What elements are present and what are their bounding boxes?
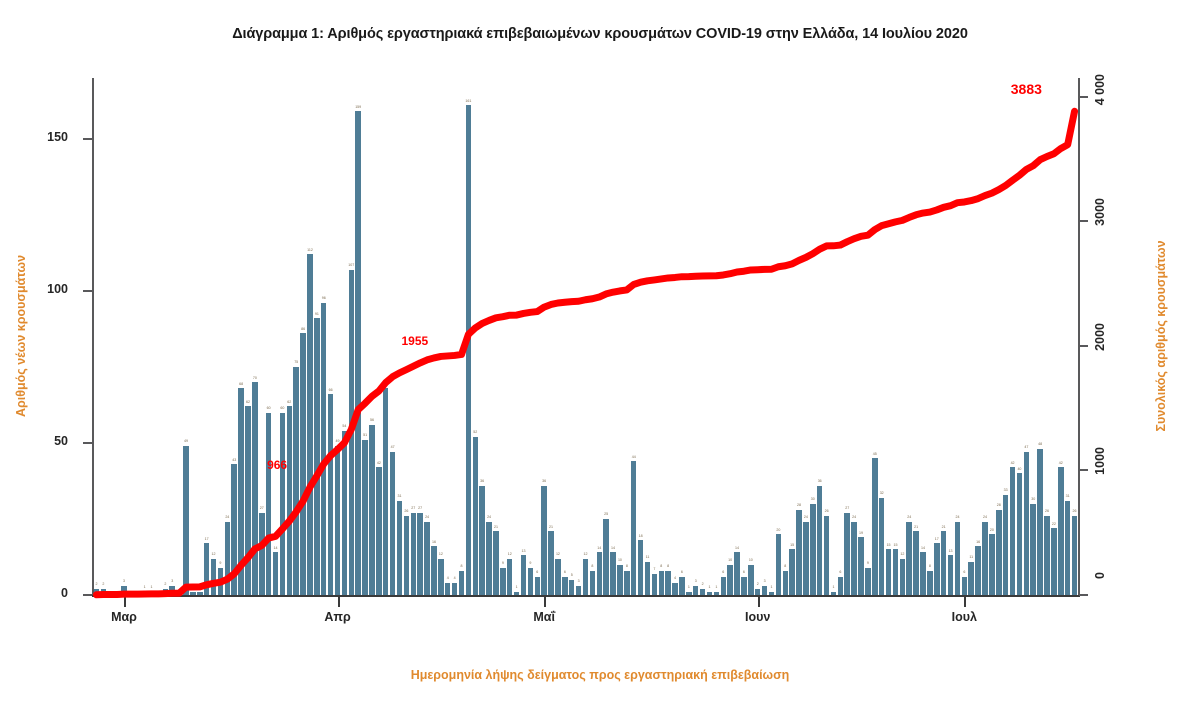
y-axis-right-title: Συνολικός αριθμός κρουσμάτων — [1154, 240, 1168, 431]
y-left-tick-mark — [83, 442, 92, 444]
y-axis-right-line — [1078, 78, 1080, 595]
y-left-tick-label: 50 — [0, 434, 68, 448]
y-right-tick-mark — [1079, 96, 1088, 98]
y-right-tick-mark — [1079, 594, 1088, 596]
y-right-tick-label: 1000 — [1093, 447, 1107, 475]
x-tick-mark — [338, 597, 340, 607]
cumulative-line-series — [93, 78, 1078, 595]
chart-root: Διάγραμμα 1: Αριθμός εργαστηριακά επιβεβ… — [0, 0, 1200, 711]
x-tick-mark — [964, 597, 966, 607]
chart-title: Διάγραμμα 1: Αριθμός εργαστηριακά επιβεβ… — [0, 26, 1200, 42]
y-left-tick-label: 100 — [0, 282, 68, 296]
y-right-tick-mark — [1079, 345, 1088, 347]
cumulative-annotation: 3883 — [1011, 81, 1042, 97]
x-tick-label: Απρ — [324, 610, 350, 624]
x-axis-line — [92, 595, 1080, 597]
y-right-tick-mark — [1079, 469, 1088, 471]
x-tick-mark — [124, 597, 126, 607]
y-left-tick-label: 0 — [0, 586, 68, 600]
x-tick-mark — [544, 597, 546, 607]
x-tick-label: Ιουλ — [952, 610, 977, 624]
cumulative-annotation: 966 — [267, 458, 287, 472]
y-left-tick-mark — [83, 594, 92, 596]
y-right-tick-label: 4 000 — [1093, 74, 1107, 105]
cumulative-line-path — [96, 111, 1074, 594]
y-left-tick-label: 150 — [0, 130, 68, 144]
x-tick-mark — [758, 597, 760, 607]
plot-area: 050100150 01000200030004 000 ΜαρΑπρΜαΐΙο… — [93, 78, 1078, 595]
cumulative-annotation: 1955 — [401, 334, 428, 348]
y-right-tick-label: 3000 — [1093, 198, 1107, 226]
y-right-tick-label: 2000 — [1093, 323, 1107, 351]
x-axis-title: Ημερομηνία λήψης δείγματος προς εργαστηρ… — [0, 668, 1200, 682]
y-axis-left-title: Αριθμός νέων κρουσμάτων — [14, 255, 28, 417]
x-tick-label: Μαΐ — [533, 610, 555, 624]
x-tick-label: Ιουν — [745, 610, 770, 624]
y-right-tick-mark — [1079, 220, 1088, 222]
y-right-tick-label: 0 — [1093, 572, 1107, 579]
x-tick-label: Μαρ — [111, 610, 137, 624]
y-left-tick-mark — [83, 290, 92, 292]
y-left-tick-mark — [83, 138, 92, 140]
